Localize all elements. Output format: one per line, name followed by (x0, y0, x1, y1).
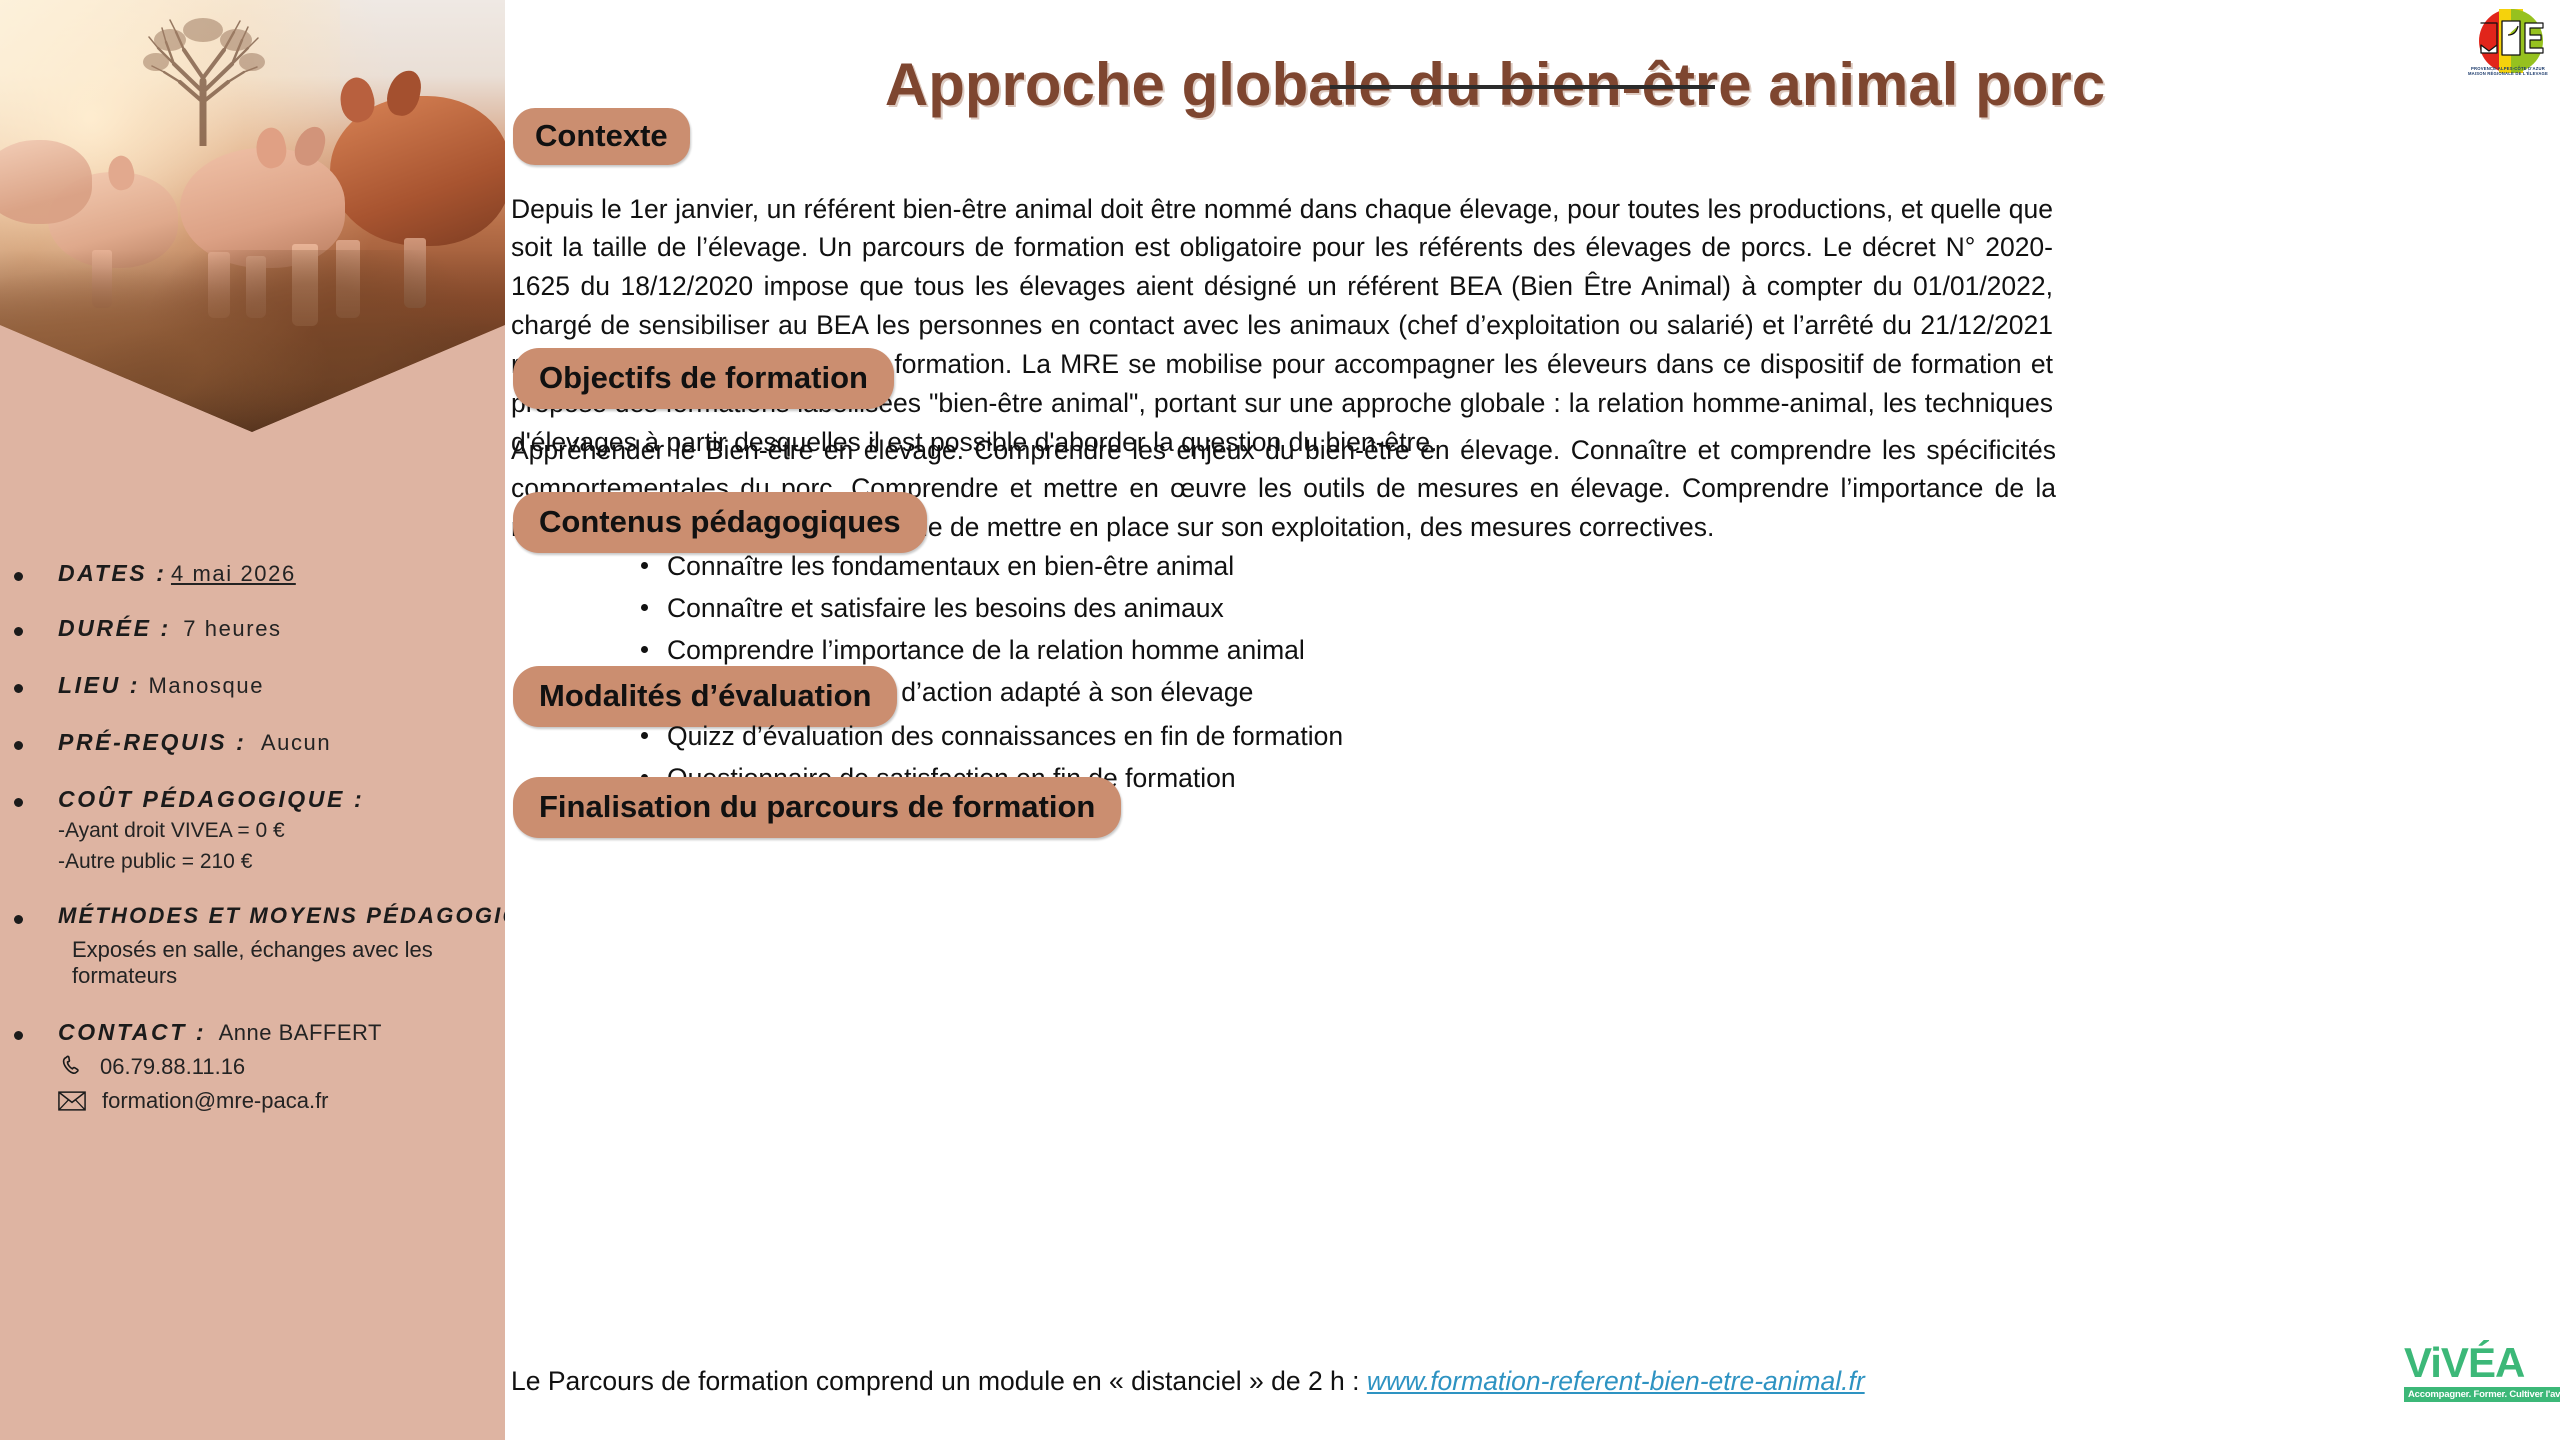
pig-shape (0, 140, 92, 224)
detail-item-methodes: MÉTHODES ET MOYENS PÉDAGOGIQUES : Exposé… (0, 903, 505, 989)
detail-label: CONTACT : (58, 1019, 206, 1045)
section-text-contexte: Depuis le 1er janvier, un référent bien-… (511, 190, 2053, 463)
detail-label: DURÉE : (58, 615, 171, 641)
section-badge-contexte: Contexte (513, 108, 690, 165)
badge-label: Contenus pédagogiques (513, 492, 927, 553)
detail-label: PRÉ-REQUIS : (58, 729, 246, 755)
detail-item-dates: DATES : 4 mai 2026 (0, 560, 505, 587)
main-content: Approche globale du bien-être animal por… (505, 0, 2560, 1440)
mre-logo-caption: PROVENCE-ALPES-CÔTE D'AZUR MAISON RÉGION… (2462, 66, 2554, 77)
list-item: Quizz d’évaluation des connaissances en … (641, 716, 1941, 758)
section-badge-contenus: Contenus pédagogiques (513, 492, 927, 553)
badge-label: Objectifs de formation (513, 348, 894, 409)
mud-ground (0, 250, 505, 540)
detail-value: 7 heures (183, 616, 281, 641)
contact-phone-text: 06.79.88.11.16 (100, 1054, 245, 1080)
detail-value: Aucun (261, 730, 331, 755)
phone-icon (58, 1054, 84, 1080)
detail-item-duree: DURÉE : 7 heures (0, 615, 505, 642)
contact-email-row[interactable]: formation@mre-paca.fr (58, 1088, 505, 1114)
contact-phone-row[interactable]: 06.79.88.11.16 (58, 1054, 505, 1080)
vivea-tagline: Accompagner. Former. Cultiver l'avenir. (2404, 1387, 2560, 1402)
vivea-wordmark: ViVÉA (2404, 1342, 2554, 1384)
hero-photo-pigs (0, 0, 505, 540)
detail-label: DATES : (58, 560, 167, 586)
badge-label: Finalisation du parcours de formation (513, 777, 1121, 838)
detail-label: MÉTHODES ET MOYENS PÉDAGOGIQUES : (58, 903, 505, 928)
sidebar: DATES : 4 mai 2026 DURÉE : 7 heures LIEU… (0, 0, 505, 1440)
methods-text: Exposés en salle, échanges avec les form… (58, 937, 505, 989)
detail-item-lieu: LIEU : Manosque (0, 672, 505, 699)
footer-link[interactable]: www.formation-referent-bien-etre-animal.… (1367, 1366, 1865, 1396)
detail-value: Manosque (149, 673, 265, 698)
footer-line: Le Parcours de formation comprend un mod… (511, 1366, 2311, 1397)
detail-value: 4 mai 2026 (171, 561, 296, 586)
vivea-logo: ViVÉA Accompagner. Former. Cultiver l'av… (2404, 1342, 2554, 1434)
detail-item-cout: COÛT PÉDAGOGIQUE : -Ayant droit VIVEA = … (0, 786, 505, 877)
contact-email-text: formation@mre-paca.fr (102, 1088, 329, 1114)
tree-silhouette-icon (118, 6, 288, 146)
badge-label: Contexte (513, 108, 690, 165)
training-details-list: DATES : 4 mai 2026 DURÉE : 7 heures LIEU… (0, 560, 505, 1114)
list-item: Connaître et satisfaire les besoins des … (641, 588, 1941, 630)
cost-line: -Ayant droit VIVEA = 0 € (58, 816, 505, 846)
detail-item-contact: CONTACT : Anne BAFFERT 06.79.88.11.16 fo… (0, 1019, 505, 1114)
mre-logo-caption-text: MAISON RÉGIONALE DE L'ÉLEVAGE (2462, 71, 2554, 76)
pig-ear-shape (292, 123, 329, 169)
envelope-icon (58, 1090, 86, 1112)
section-badge-finalisation: Finalisation du parcours de formation (513, 777, 1121, 838)
section-badge-objectifs: Objectifs de formation (513, 348, 894, 409)
cost-line: -Autre public = 210 € (58, 847, 505, 877)
footer-text: Le Parcours de formation comprend un mod… (511, 1366, 1367, 1396)
contact-name: Anne BAFFERT (219, 1020, 382, 1045)
detail-label: COÛT PÉDAGOGIQUE : (58, 786, 364, 812)
detail-item-prerequis: PRÉ-REQUIS : Aucun (0, 729, 505, 756)
detail-label: LIEU : (58, 672, 140, 698)
list-item: Connaître les fondamentaux en bien-être … (641, 546, 1941, 588)
title-underline-rule (1330, 85, 1715, 89)
